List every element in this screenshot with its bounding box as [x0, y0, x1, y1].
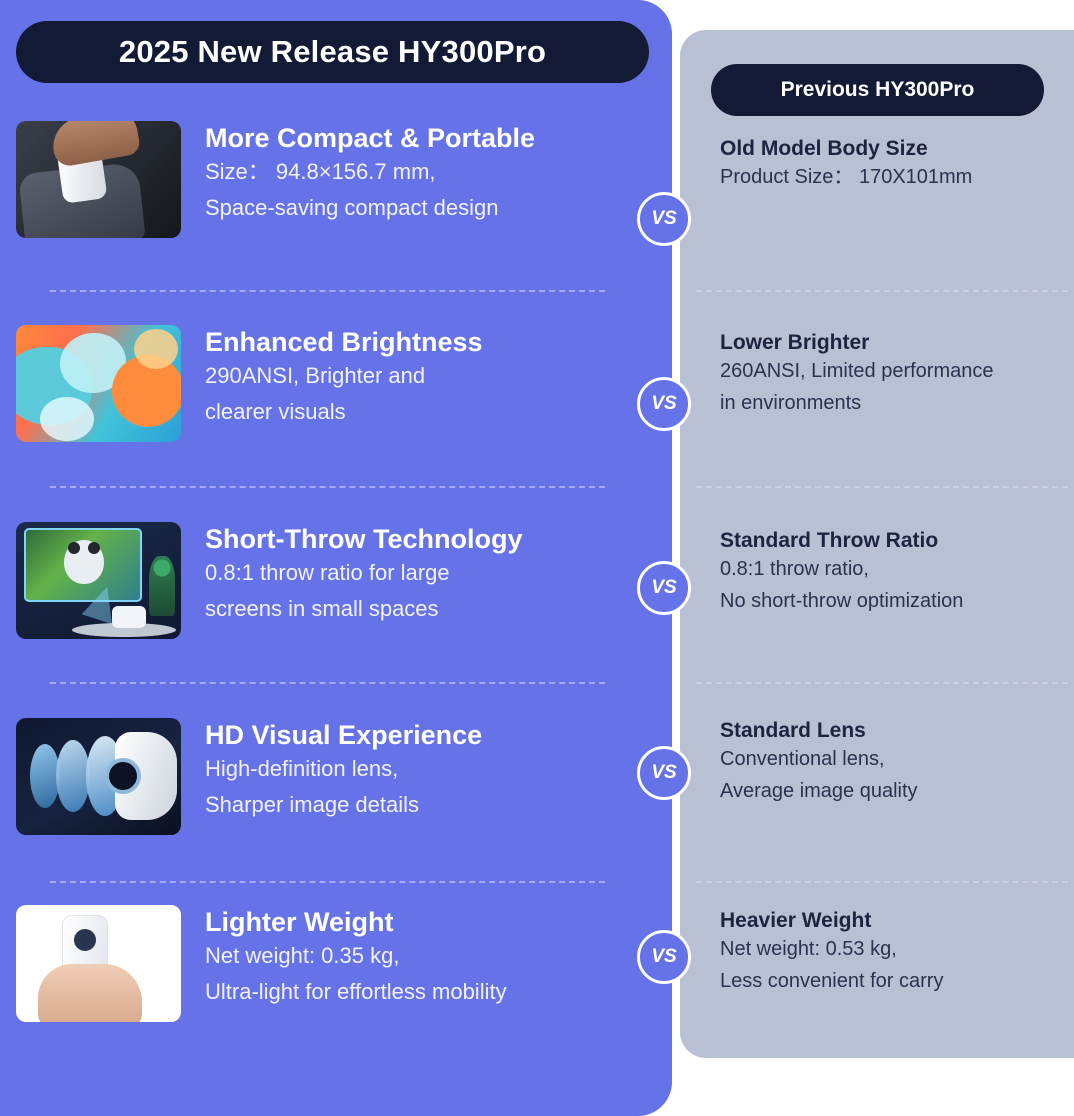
colorful-flower-brightness-photo — [16, 325, 181, 442]
old-feature-desc-3-line2: No short-throw optimization — [720, 585, 1060, 617]
new-feature-title-3: Short-Throw Technology — [205, 524, 522, 555]
old-divider-2 — [696, 486, 1068, 488]
vs-badge-1: VS — [637, 192, 691, 246]
new-feature-desc-4-line2: Sharper image details — [205, 787, 482, 823]
vs-badge-2-label: VS — [651, 393, 676, 415]
old-feature-title-1: Old Model Body Size — [720, 136, 1060, 161]
old-divider-1 — [696, 290, 1068, 292]
new-feature-title-1: More Compact & Portable — [205, 123, 535, 154]
new-feature-desc-2-line1: 290ANSI, Brighter and — [205, 358, 483, 394]
vs-badge-3-label: VS — [651, 577, 676, 599]
old-divider-4 — [696, 881, 1068, 883]
old-divider-3 — [696, 682, 1068, 684]
new-divider-1 — [50, 290, 605, 292]
old-feature-desc-3-line1: 0.8:1 throw ratio, — [720, 553, 1060, 585]
old-feature-row-3: Standard Throw Ratio 0.8:1 throw ratio, … — [720, 528, 1060, 617]
new-feature-title-5: Lighter Weight — [205, 907, 507, 938]
new-feature-title-4: HD Visual Experience — [205, 720, 482, 751]
vs-badge-5: VS — [637, 930, 691, 984]
new-release-badge-label: 2025 New Release HY300Pro — [119, 34, 546, 70]
old-feature-desc-5-line1: Net weight: 0.53 kg, — [720, 933, 1060, 965]
comparison-infographic: 2025 New Release HY300Pro Previous HY300… — [0, 0, 1074, 1116]
vs-badge-4: VS — [637, 746, 691, 800]
old-feature-row-5: Heavier Weight Net weight: 0.53 kg, Less… — [720, 908, 1060, 997]
new-feature-row-3: Short-Throw Technology 0.8:1 throw ratio… — [16, 522, 652, 639]
new-feature-desc-2-line2: clearer visuals — [205, 394, 483, 430]
new-feature-row-5: Lighter Weight Net weight: 0.35 kg, Ultr… — [16, 905, 652, 1022]
new-feature-desc-1-line1: Size： 94.8×156.7 mm, — [205, 154, 535, 190]
previous-model-badge: Previous HY300Pro — [711, 64, 1044, 116]
new-feature-row-4: HD Visual Experience High-definition len… — [16, 718, 652, 835]
new-divider-4 — [50, 881, 605, 883]
old-feature-title-2: Lower Brighter — [720, 330, 1060, 355]
vs-badge-4-label: VS — [651, 762, 676, 784]
new-feature-row-2: Enhanced Brightness 290ANSI, Brighter an… — [16, 325, 652, 442]
short-throw-panda-screen-photo — [16, 522, 181, 639]
old-feature-desc-5-line2: Less convenient for carry — [720, 965, 1060, 997]
old-feature-title-3: Standard Throw Ratio — [720, 528, 1060, 553]
vs-badge-1-label: VS — [651, 208, 676, 230]
old-feature-row-1: Old Model Body Size Product Size： 170X10… — [720, 136, 1060, 193]
new-feature-desc-3-line2: screens in small spaces — [205, 591, 522, 627]
old-feature-title-5: Heavier Weight — [720, 908, 1060, 933]
vs-badge-2: VS — [637, 377, 691, 431]
new-feature-desc-4-line1: High-definition lens, — [205, 751, 482, 787]
old-feature-desc-2-line2: in environments — [720, 387, 1060, 419]
new-feature-desc-5-line2: Ultra-light for effortless mobility — [205, 974, 507, 1010]
old-feature-row-2: Lower Brighter 260ANSI, Limited performa… — [720, 330, 1060, 419]
new-divider-3 — [50, 682, 605, 684]
previous-model-badge-label: Previous HY300Pro — [781, 78, 975, 102]
new-feature-title-2: Enhanced Brightness — [205, 327, 483, 358]
old-feature-desc-2-line1: 260ANSI, Limited performance — [720, 355, 1060, 387]
lens-exploded-view-photo — [16, 718, 181, 835]
new-divider-2 — [50, 486, 605, 488]
compact-projector-in-bag-photo — [16, 121, 181, 238]
projector-held-in-hand-photo — [16, 905, 181, 1022]
old-feature-desc-4-line2: Average image quality — [720, 775, 1060, 807]
new-feature-row-1: More Compact & Portable Size： 94.8×156.7… — [16, 121, 652, 238]
old-feature-desc-1-line1: Product Size： 170X101mm — [720, 161, 1060, 193]
new-feature-desc-3-line1: 0.8:1 throw ratio for large — [205, 555, 522, 591]
new-feature-desc-1-line2: Space-saving compact design — [205, 190, 535, 226]
old-feature-row-4: Standard Lens Conventional lens, Average… — [720, 718, 1060, 807]
old-feature-title-4: Standard Lens — [720, 718, 1060, 743]
vs-badge-3: VS — [637, 561, 691, 615]
new-feature-desc-5-line1: Net weight: 0.35 kg, — [205, 938, 507, 974]
vs-badge-5-label: VS — [651, 946, 676, 968]
old-feature-desc-4-line1: Conventional lens, — [720, 743, 1060, 775]
new-release-badge: 2025 New Release HY300Pro — [16, 21, 649, 83]
